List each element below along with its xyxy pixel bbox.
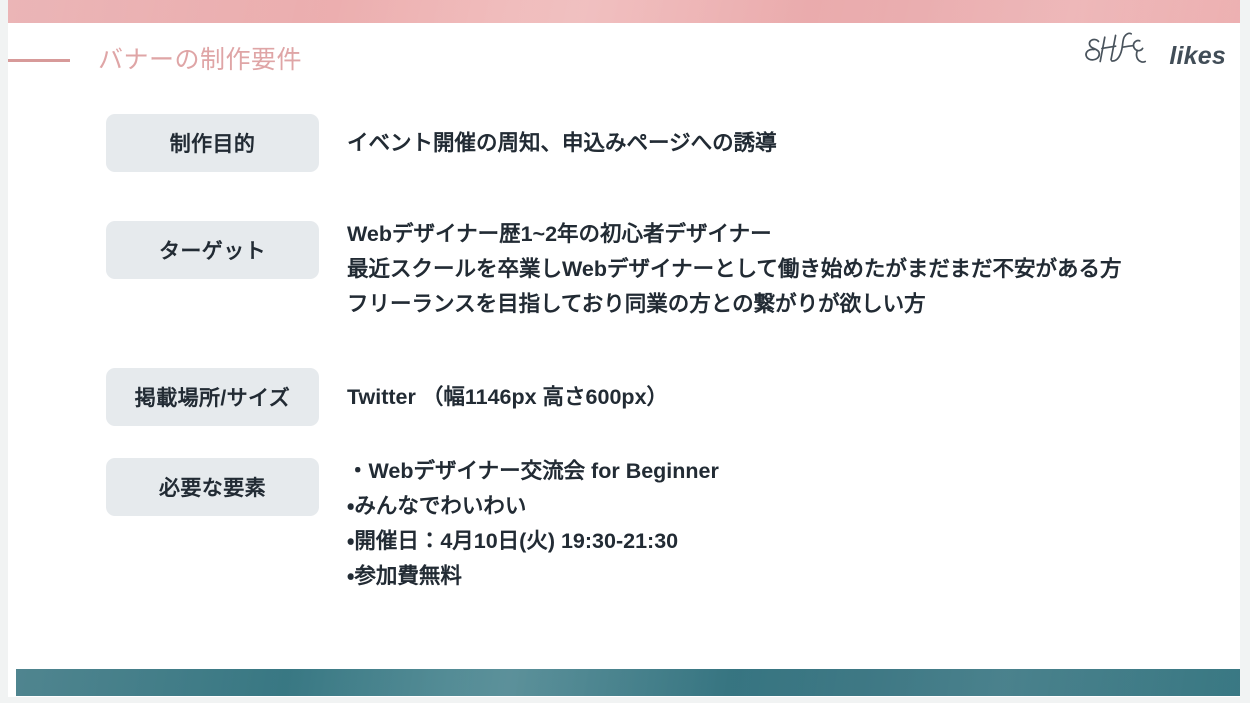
body-line: Twitter （幅1146px 高さ600px） bbox=[347, 380, 668, 415]
body-line: イベント開催の周知、申込みページへの誘導 bbox=[347, 126, 777, 161]
row-label-placement-size: 掲載場所/サイズ bbox=[106, 368, 319, 426]
body-line: 参加費無料 bbox=[347, 559, 719, 594]
body-line: フリーランスを目指しており同業の方との繋がりが欲しい方 bbox=[347, 287, 1122, 322]
body-line: 開催日：4月10日(火) 19:30-21:30 bbox=[347, 524, 719, 559]
body-line: みんなでわいわい bbox=[347, 489, 719, 524]
body-line: Webデザイナー交流会 for Beginner bbox=[347, 454, 719, 489]
row-body-purpose: イベント開催の周知、申込みページへの誘導 bbox=[347, 126, 777, 161]
row-label-target: ターゲット bbox=[106, 221, 319, 279]
bottom-decorative-band bbox=[16, 669, 1240, 696]
row-body-required-elements: Webデザイナー交流会 for Beginner みんなでわいわい 開催日：4月… bbox=[347, 454, 719, 594]
body-line: 最近スクールを卒業しWebデザイナーとして働き始めたがまだまだ不安がある方 bbox=[347, 252, 1122, 287]
slide-canvas: バナーの制作要件 likes 制作目的 イベント開催の周知、申込みページへの誘導 bbox=[8, 0, 1240, 697]
row-body-target: Webデザイナー歴1~2年の初心者デザイナー 最近スクールを卒業しWebデザイナ… bbox=[347, 217, 1122, 322]
body-line: Webデザイナー歴1~2年の初心者デザイナー bbox=[347, 217, 1122, 252]
row-label-purpose: 制作目的 bbox=[106, 114, 319, 172]
requirements-table: 制作目的 イベント開催の周知、申込みページへの誘導 ターゲット Webデザイナー… bbox=[8, 0, 1240, 697]
row-body-placement-size: Twitter （幅1146px 高さ600px） bbox=[347, 380, 668, 415]
row-label-required-elements: 必要な要素 bbox=[106, 458, 319, 516]
